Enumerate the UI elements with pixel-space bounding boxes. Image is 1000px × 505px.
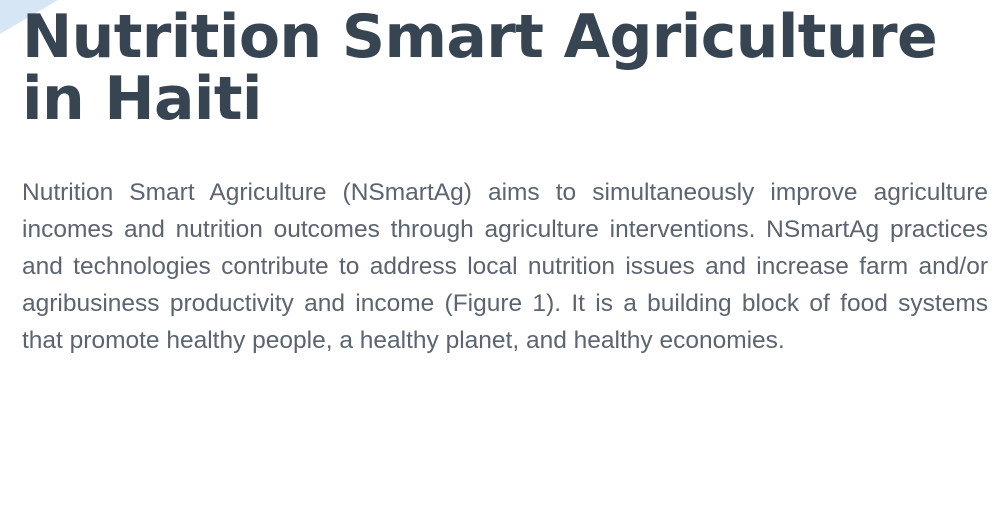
document-page: Nutrition Smart Agriculture in Haiti Nut… bbox=[0, 0, 1000, 505]
intro-paragraph: Nutrition Smart Agriculture (NSmartAg) a… bbox=[22, 174, 988, 359]
page-content: Nutrition Smart Agriculture in Haiti Nut… bbox=[22, 0, 990, 359]
page-title: Nutrition Smart Agriculture in Haiti bbox=[22, 0, 972, 130]
